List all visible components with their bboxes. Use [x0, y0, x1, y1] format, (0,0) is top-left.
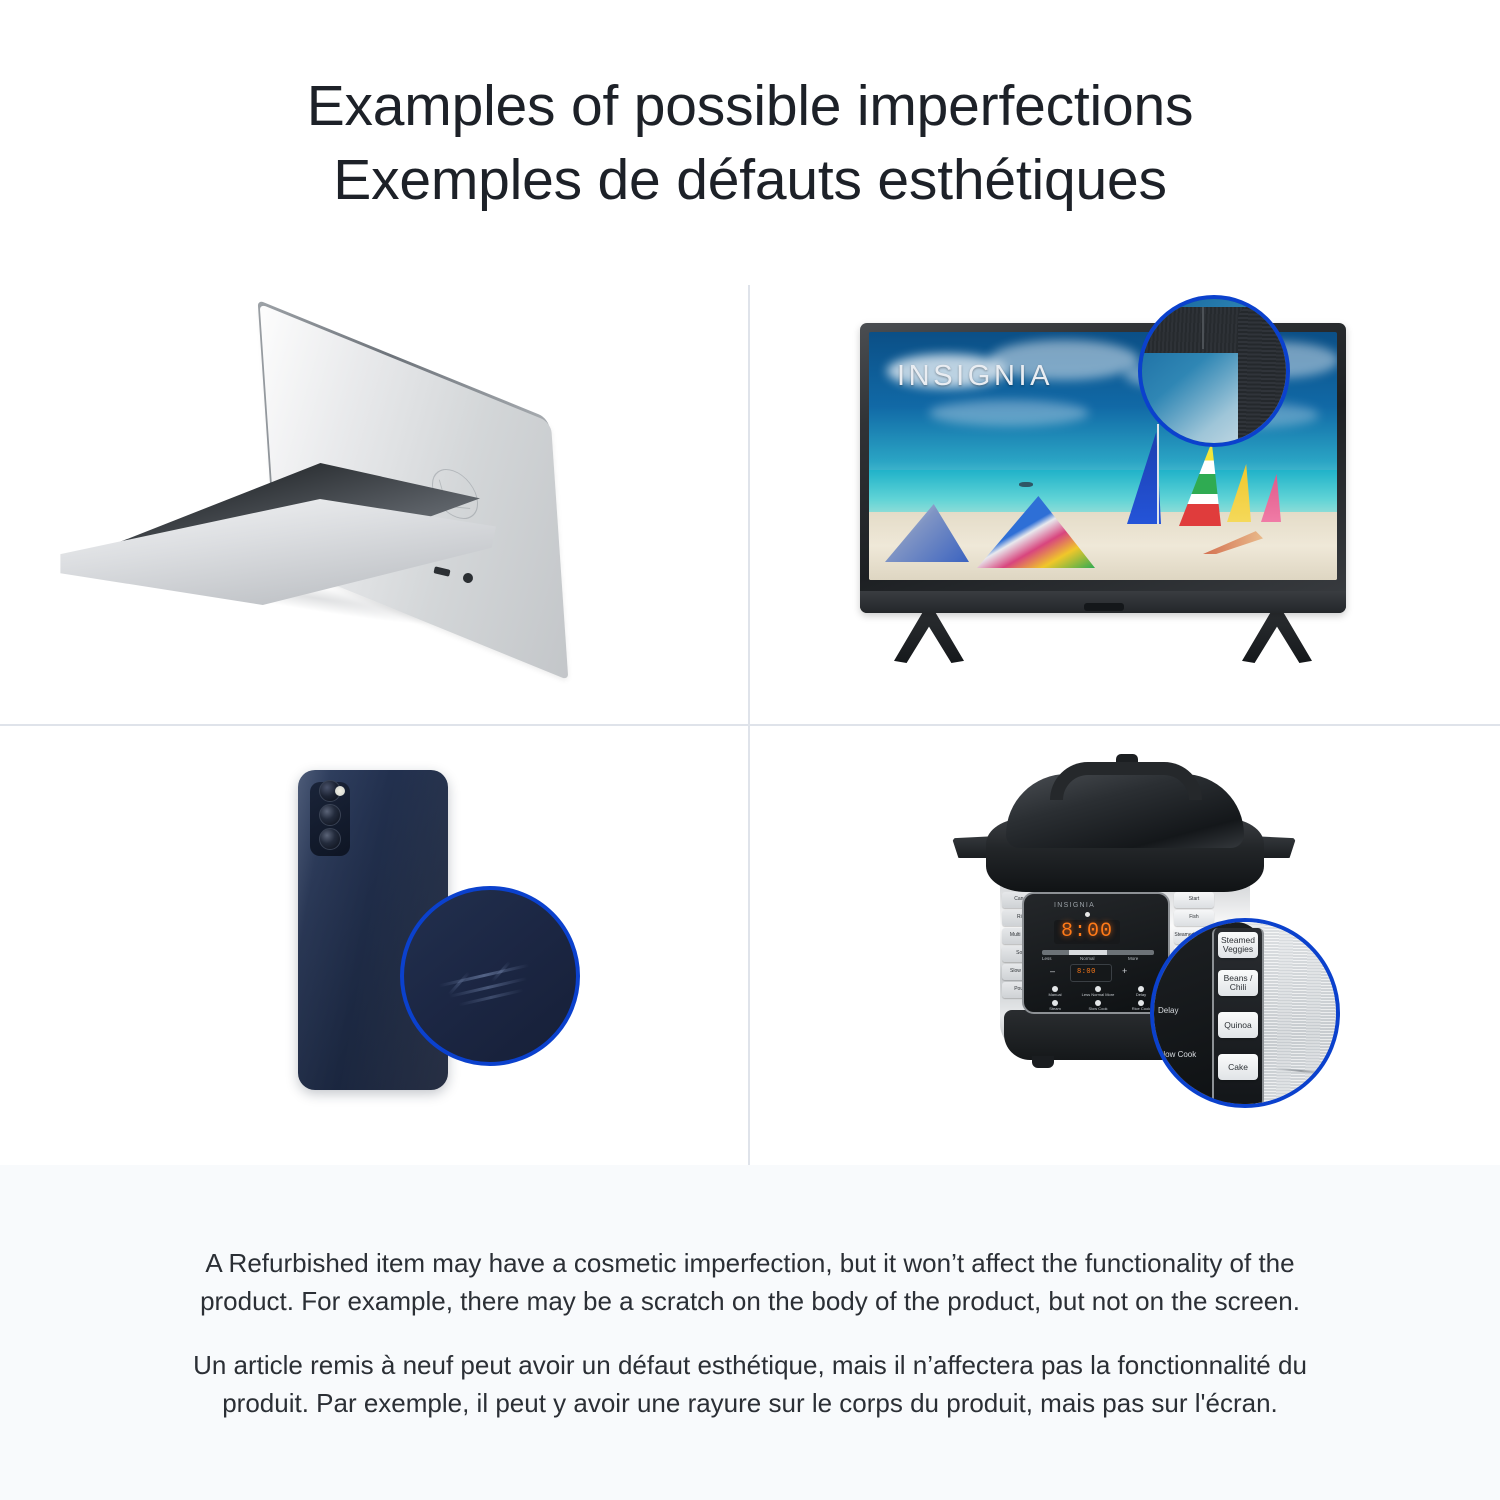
television-illustration: INSIGNIA: [750, 285, 1500, 724]
example-cell-smartphone: [0, 726, 748, 1165]
cooker-button[interactable]: Start: [1174, 892, 1214, 908]
distant-boat: [1019, 482, 1033, 487]
footer-paragraph-fr: Un article remis à neuf peut avoir un dé…: [190, 1346, 1310, 1422]
cooker-mini-button-label: Slow Cook: [1088, 1007, 1107, 1011]
example-cell-television: INSIGNIA: [750, 285, 1500, 724]
camera-lens-icon: [319, 804, 341, 826]
magnified-bezel-right: [1238, 307, 1290, 447]
progress-label: Less: [1042, 956, 1052, 961]
tv-leg-right: [1242, 611, 1312, 663]
pressure-cooker-illustration: Cancel Rice Multi Grain Soup Slow Cook P…: [750, 726, 1500, 1165]
cooker-mini-button-row-2: Steam Slow Cook Rice Cook: [1038, 1000, 1158, 1011]
cooker-mini-button[interactable]: Steam: [1038, 1000, 1072, 1011]
magnified-cooker-button[interactable]: Steamed Veggies: [1218, 932, 1258, 958]
cooker-mini-button-label: Steam: [1049, 1007, 1061, 1011]
magnified-cooker-button[interactable]: Quinoa: [1218, 1012, 1258, 1038]
magnifier-phone-scratches: [400, 886, 580, 1066]
magnified-side-label: Delay: [1158, 1006, 1178, 1015]
cloud: [929, 400, 1089, 426]
example-cell-pressure-cooker: Cancel Rice Multi Grain Soup Slow Cook P…: [750, 726, 1500, 1165]
keyboard-keys: [324, 695, 514, 724]
camera-flash-icon: [335, 786, 345, 796]
cooker-mini-button-row-1: Manual Less Normal More Delay: [1038, 986, 1158, 997]
tv-leg-left: [894, 611, 964, 663]
cooker-secondary-display: 8:00: [1070, 964, 1112, 982]
cooker-mini-button-label: Manual: [1048, 993, 1061, 997]
bezel-seam: [1202, 307, 1204, 349]
magnifier-cooker-scratch: Delay Slow Cook Steamed Veggies Beans / …: [1150, 918, 1340, 1108]
page-title-fr: Exemples de défauts esthétiques: [333, 143, 1167, 217]
example-cell-laptop: [0, 285, 748, 724]
imperfections-infographic: Examples of possible imperfections Exemp…: [0, 0, 1500, 1500]
progress-label: More: [1128, 956, 1138, 961]
cooker-lid-handle: [1050, 762, 1202, 800]
page-header: Examples of possible imperfections Exemp…: [0, 0, 1500, 285]
cooker-secondary-display-value: 8:00: [1077, 968, 1096, 976]
magnifier-tv-bezel: [1138, 295, 1290, 447]
tv-bottom-bezel: [860, 591, 1346, 613]
magnified-cooker-button[interactable]: Cake: [1218, 1054, 1258, 1080]
cooker-display: 8:00: [1054, 920, 1120, 944]
cooker-foot: [1032, 1056, 1054, 1068]
laptop-illustration: [0, 285, 748, 724]
cooker-control-panel: INSIGNIA 8:00 Less Normal More – + 8:00: [1022, 892, 1170, 1014]
power-indicator-icon: [1085, 912, 1090, 917]
cooker-mini-button-label: Less Normal More: [1082, 993, 1115, 997]
ir-receiver-icon: [1084, 603, 1124, 611]
footer-paragraph-en: A Refurbished item may have a cosmetic i…: [190, 1244, 1310, 1320]
cooker-mini-button[interactable]: Slow Cook: [1081, 1000, 1115, 1011]
laptop-keyboard: [324, 695, 514, 724]
cooker-display-value: 8:00: [1061, 922, 1113, 942]
page-footer: A Refurbished item may have a cosmetic i…: [0, 1165, 1500, 1500]
scratch-mark: [439, 964, 529, 988]
insignia-logo-cooker: INSIGNIA: [1054, 902, 1095, 909]
decrement-button[interactable]: –: [1050, 966, 1055, 976]
progress-label: Normal: [1080, 956, 1095, 961]
cooker-progress-bar: [1042, 950, 1154, 955]
cooker-mini-button[interactable]: Manual: [1038, 986, 1072, 997]
page-title-en: Examples of possible imperfections: [307, 69, 1194, 143]
examples-grid: INSIGNIA: [0, 285, 1500, 1165]
insignia-logo-tv: INSIGNIA: [897, 360, 1053, 393]
magnified-side-label: Slow Cook: [1158, 1050, 1196, 1059]
cooker-mini-button[interactable]: Less Normal More: [1081, 986, 1115, 997]
camera-lens-icon: [319, 828, 341, 850]
cooker-mini-button-label: Rice Cook: [1132, 1007, 1150, 1011]
increment-button[interactable]: +: [1122, 966, 1127, 976]
camera-module: [310, 782, 350, 856]
magnified-cooker-button[interactable]: Beans / Chili: [1218, 970, 1258, 996]
smartphone-illustration: [0, 726, 748, 1165]
cooker-mini-button-label: Delay: [1136, 993, 1146, 997]
